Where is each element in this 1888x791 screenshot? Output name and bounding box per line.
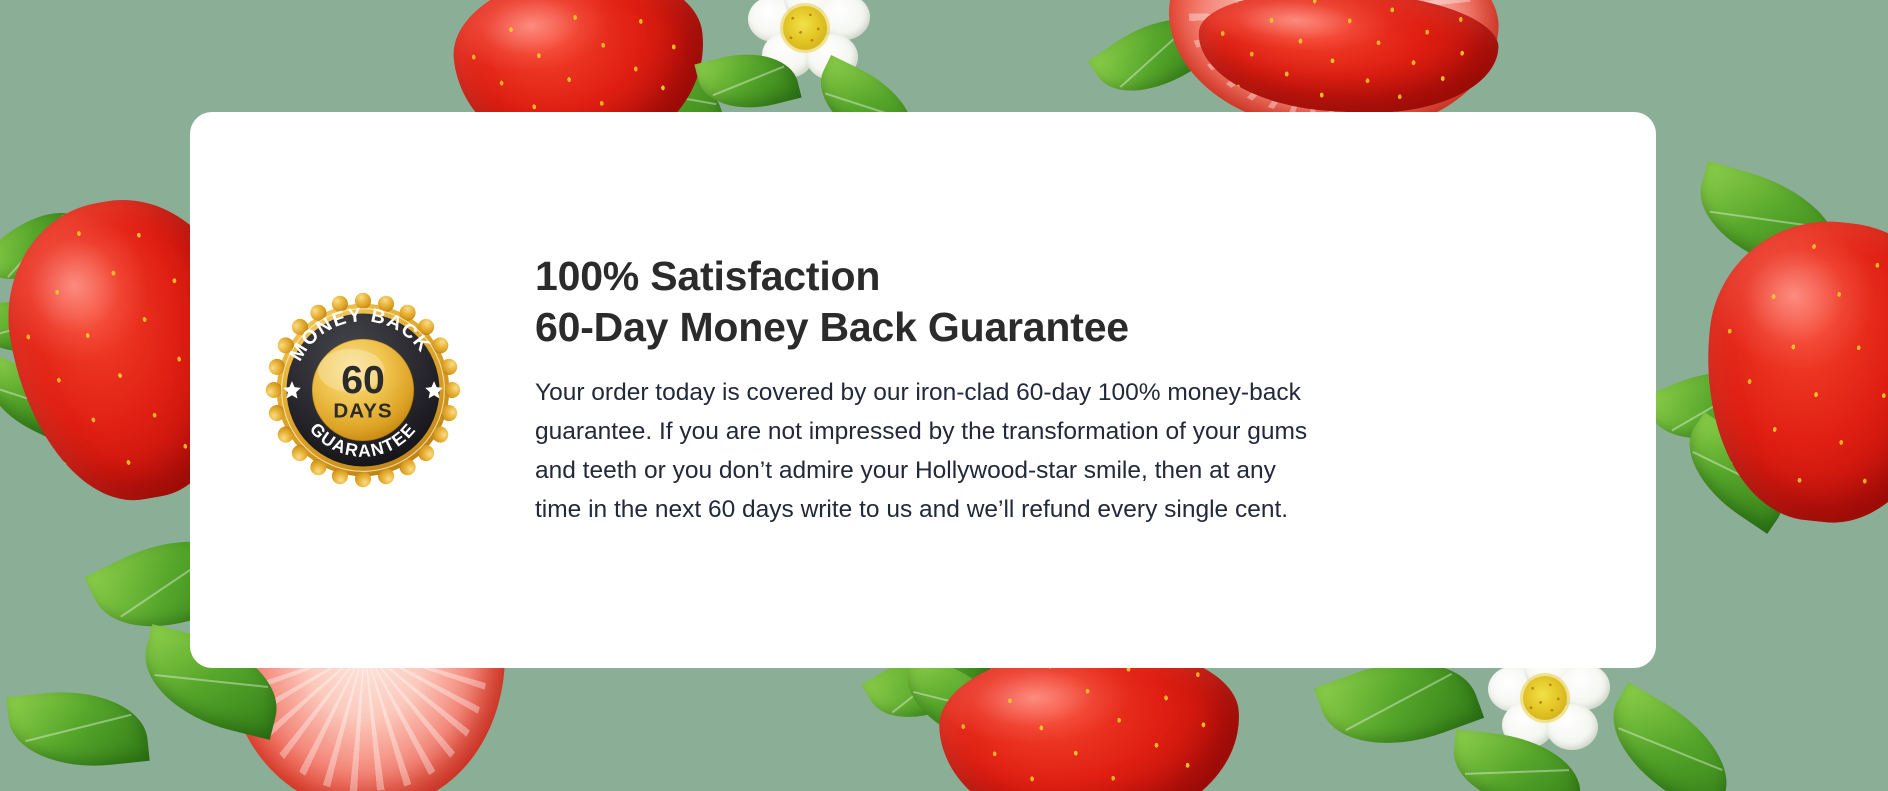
guarantee-body-text: Your order today is covered by our iron-… [535, 374, 1325, 529]
text-column: 100% Satisfaction 60-Day Money Back Guar… [535, 251, 1656, 529]
leaf-decor [6, 683, 149, 775]
seal-center-unit: DAYS [333, 399, 392, 422]
leaf-decor [1590, 682, 1749, 791]
page-title: 100% Satisfaction 60-Day Money Back Guar… [535, 251, 1546, 353]
headline-line-1: 100% Satisfaction [535, 253, 880, 299]
guarantee-card: MONEY BACK GUARANTEE 60 DAYS 100% Satisf… [190, 112, 1656, 668]
badge-column: MONEY BACK GUARANTEE 60 DAYS [190, 292, 535, 488]
headline-line-2: 60-Day Money Back Guarantee [535, 304, 1129, 350]
money-back-guarantee-seal-icon: MONEY BACK GUARANTEE 60 DAYS [265, 292, 461, 488]
seal-center-number: 60 [341, 359, 385, 402]
